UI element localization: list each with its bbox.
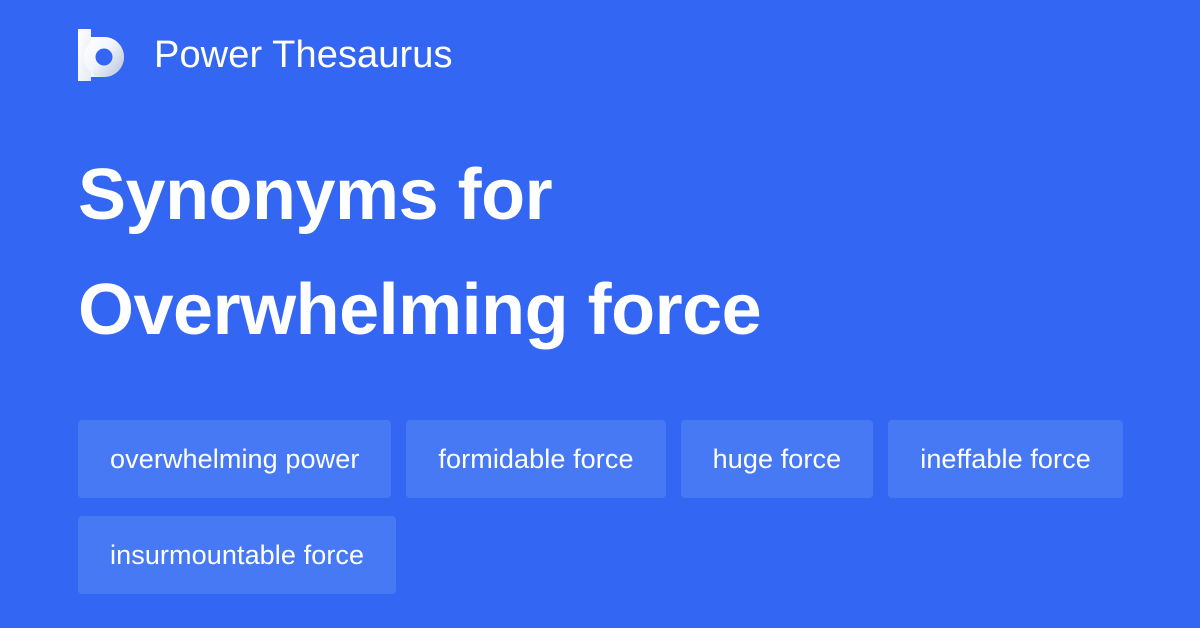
brand-header[interactable]: power thesaurus	[78, 27, 453, 83]
synonym-chip[interactable]: ineffable force	[888, 420, 1123, 498]
page-title: Synonyms for Overwhelming force	[78, 138, 1128, 368]
synonym-chip-list: overwhelming power formidable force huge…	[78, 420, 1138, 594]
synonym-chip[interactable]: overwhelming power	[78, 420, 391, 498]
headline-line-1: Synonyms for	[78, 138, 1128, 253]
headline-line-2: Overwhelming force	[78, 253, 1128, 368]
power-thesaurus-b-logo-icon	[78, 29, 126, 81]
synonym-chip[interactable]: formidable force	[406, 420, 665, 498]
synonym-chip[interactable]: insurmountable force	[78, 516, 396, 594]
brand-name: power thesaurus	[154, 36, 453, 74]
synonym-chip[interactable]: huge force	[681, 420, 874, 498]
